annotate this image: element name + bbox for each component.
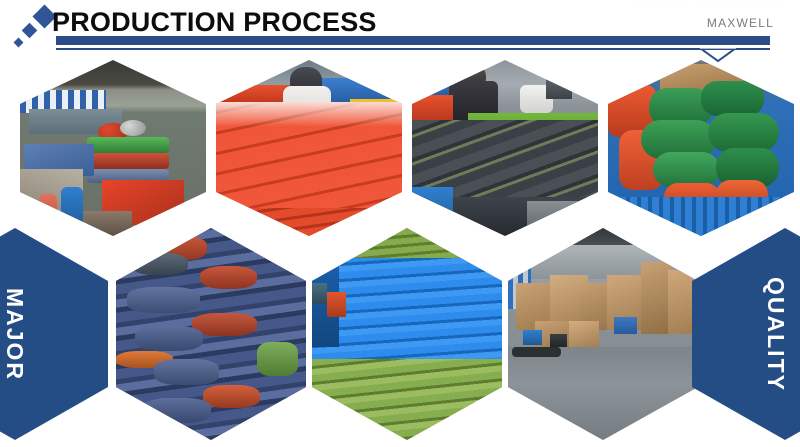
gallery-hex-inflatable-mats-stacked[interactable]	[116, 228, 306, 440]
gallery-hex-blue-green-mats-stacked[interactable]	[312, 228, 502, 440]
photo-blue-green-mats-stacked	[312, 228, 502, 440]
gallery-hex-orange-tarp-cutting[interactable]	[216, 60, 402, 236]
hexagon-gallery: MAJOR	[0, 0, 800, 447]
gallery-hex-fabric-rolls-warehouse[interactable]	[20, 60, 206, 236]
side-panel-major-label-wrap: MAJOR	[0, 228, 108, 440]
production-process-banner: MAXWELLOUTDOORS PRODUCTION PROCESS MAXWE…	[0, 0, 800, 447]
photo-inflatable-mats-stacked	[116, 228, 306, 440]
side-panel-quality-label: QUALITY	[762, 277, 789, 392]
side-panel-quality-label-wrap: QUALITY	[692, 228, 800, 440]
photo-orange-tarp-cutting	[216, 60, 402, 236]
photo-green-grey-sewing	[412, 60, 598, 236]
side-panel-major-label: MAJOR	[2, 287, 29, 380]
side-panel-quality: QUALITY	[692, 228, 800, 440]
photo-carton-boxes-warehouse	[508, 228, 698, 440]
side-panel-major: MAJOR	[0, 228, 108, 440]
gallery-hex-green-grey-sewing[interactable]	[412, 60, 598, 236]
photo-packed-bags-crate	[608, 60, 794, 236]
photo-fabric-rolls-warehouse	[20, 60, 206, 236]
gallery-hex-carton-boxes-warehouse[interactable]	[508, 228, 698, 440]
gallery-hex-packed-bags-crate[interactable]	[608, 60, 794, 236]
